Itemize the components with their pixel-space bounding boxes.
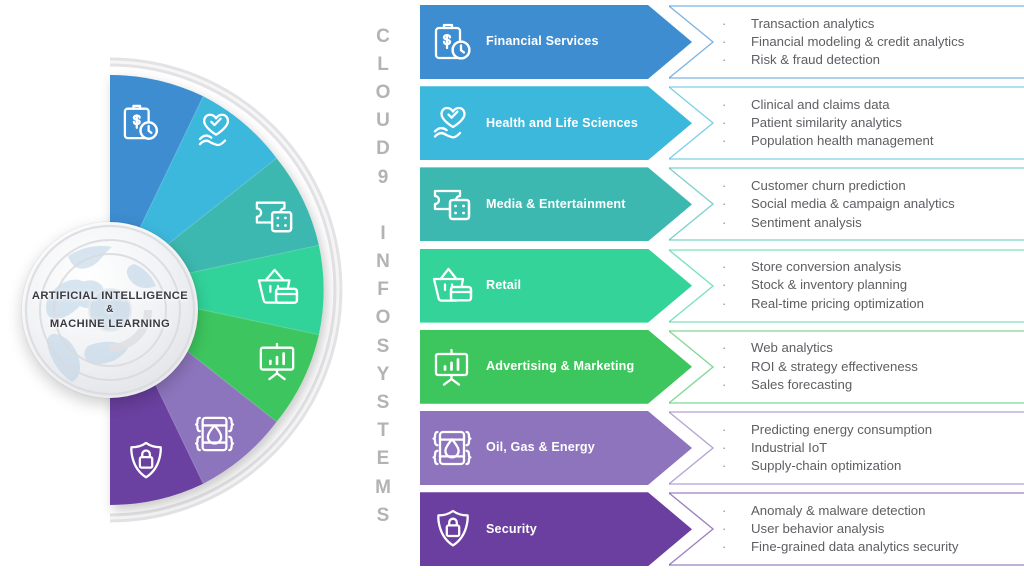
bullet-item: ·Real-time pricing optimization (722, 295, 1020, 313)
row-arrow-media-and-entertainment[interactable]: Media & Entertainment (420, 167, 692, 241)
brand-letter: I (380, 219, 385, 247)
bullet-item: ·Sales forecasting (722, 376, 1020, 394)
industry-row[interactable]: ·Store conversion analysis·Stock & inven… (420, 249, 1024, 323)
row-arrow-financial-services[interactable]: Financial Services (420, 5, 692, 79)
bullet-text: Anomaly & malware detection (751, 502, 925, 520)
bullet-dot-icon: · (722, 439, 751, 457)
bullet-item: ·Sentiment analysis (722, 214, 1020, 232)
row-title: Oil, Gas & Energy (486, 440, 601, 455)
bullet-item: ·Stock & inventory planning (722, 276, 1020, 294)
bullet-item: ·Transaction analytics (722, 15, 1020, 33)
row-detail-panel-advertising-and-marketing: ·Web analytics·ROI & strategy effectiven… (669, 330, 1024, 404)
bullet-text: Sales forecasting (751, 376, 852, 394)
row-title: Financial Services (486, 34, 605, 49)
brand-vertical-text: CLOUD9.INFOSYSTEMS (364, 22, 402, 558)
bullet-item: ·Clinical and claims data (722, 96, 1020, 114)
hub-line-2: & (32, 303, 188, 316)
row-detail-panel-financial-services: ·Transaction analytics·Financial modelin… (669, 5, 1024, 79)
ai-ml-hub: ARTIFICIAL INTELLIGENCE & MACHINE LEARNI… (22, 222, 198, 398)
bullet-dot-icon: · (722, 295, 751, 313)
clipboard-dollar-clock-icon (420, 5, 486, 79)
row-detail-panel-retail: ·Store conversion analysis·Stock & inven… (669, 249, 1024, 323)
row-arrow-retail[interactable]: Retail (420, 249, 692, 323)
industry-row[interactable]: ·Predicting energy consumption·Industria… (420, 411, 1024, 485)
brand-letter: C (376, 22, 390, 50)
bullet-dot-icon: · (722, 96, 751, 114)
bullet-item: ·Population health management (722, 132, 1020, 150)
bullet-dot-icon: · (722, 421, 751, 439)
bullet-text: Clinical and claims data (751, 96, 890, 114)
row-detail-panel-security: ·Anomaly & malware detection·User behavi… (669, 492, 1024, 566)
hub-label: ARTIFICIAL INTELLIGENCE & MACHINE LEARNI… (26, 289, 194, 332)
brand-letter: E (377, 445, 390, 473)
bullet-item: ·Industrial IoT (722, 439, 1020, 457)
infographic-root: ARTIFICIAL INTELLIGENCE & MACHINE LEARNI… (0, 0, 1024, 576)
row-arrow-advertising-and-marketing[interactable]: Advertising & Marketing (420, 330, 692, 404)
bullet-text: Fine-grained data analytics security (751, 538, 958, 556)
brand-letter: U (376, 107, 390, 135)
bullet-dot-icon: · (722, 457, 751, 475)
bullet-dot-icon: · (722, 339, 751, 357)
bullet-list: ·Web analytics·ROI & strategy effectiven… (722, 330, 1020, 404)
industry-row[interactable]: ·Clinical and claims data·Patient simila… (420, 86, 1024, 160)
bullet-text: Social media & campaign analytics (751, 195, 955, 213)
bullet-list: ·Transaction analytics·Financial modelin… (722, 5, 1020, 79)
row-arrow-security[interactable]: Security (420, 492, 692, 566)
bullet-dot-icon: · (722, 358, 751, 376)
bullet-text: Stock & inventory planning (751, 276, 907, 294)
bullet-text: Supply-chain optimization (751, 457, 901, 475)
industry-row[interactable]: ·Transaction analytics·Financial modelin… (420, 5, 1024, 79)
row-arrow-health-and-life-sciences[interactable]: Health and Life Sciences (420, 86, 692, 160)
row-detail-panel-media-and-entertainment: ·Customer churn prediction·Social media … (669, 167, 1024, 241)
bullet-dot-icon: · (722, 33, 751, 51)
bullet-text: Population health management (751, 132, 934, 150)
brand-letter: O (376, 78, 391, 106)
row-title: Media & Entertainment (486, 197, 632, 212)
brand-letter: N (376, 248, 390, 276)
hub-line-1: ARTIFICIAL INTELLIGENCE (32, 289, 188, 304)
bullet-dot-icon: · (722, 276, 751, 294)
bullet-item: ·Predicting energy consumption (722, 421, 1020, 439)
brand-letter: Y (377, 360, 390, 388)
row-detail-panel-oil-gas-and-energy: ·Predicting energy consumption·Industria… (669, 411, 1024, 485)
bullet-item: ·Risk & fraud detection (722, 51, 1020, 69)
bullet-item: ·ROI & strategy effectiveness (722, 358, 1020, 376)
brand-letter: 9 (378, 163, 389, 191)
row-title: Advertising & Marketing (486, 359, 640, 374)
row-detail-panel-health-and-life-sciences: ·Clinical and claims data·Patient simila… (669, 86, 1024, 160)
bullet-dot-icon: · (722, 114, 751, 132)
bullet-text: Web analytics (751, 339, 833, 357)
bullet-list: ·Clinical and claims data·Patient simila… (722, 86, 1020, 160)
brand-letter: S (377, 501, 390, 529)
brand-letter: L (377, 50, 389, 78)
bullet-dot-icon: · (722, 132, 751, 150)
oil-barrel-icon (420, 411, 486, 485)
bullet-item: ·Supply-chain optimization (722, 457, 1020, 475)
bullet-text: Industrial IoT (751, 439, 827, 457)
row-title: Health and Life Sciences (486, 116, 644, 131)
bullet-dot-icon: · (722, 51, 751, 69)
bullet-item: ·Store conversion analysis (722, 258, 1020, 276)
industry-row[interactable]: ·Customer churn prediction·Social media … (420, 167, 1024, 241)
brand-letter: S (377, 388, 390, 416)
bullet-text: Real-time pricing optimization (751, 295, 924, 313)
bullet-item: ·Social media & campaign analytics (722, 195, 1020, 213)
bullet-list: ·Store conversion analysis·Stock & inven… (722, 249, 1020, 323)
presentation-chart-icon (420, 330, 486, 404)
row-arrow-oil-gas-and-energy[interactable]: Oil, Gas & Energy (420, 411, 692, 485)
brand-letter: T (377, 417, 389, 445)
bullet-item: ·Customer churn prediction (722, 177, 1020, 195)
bullet-dot-icon: · (722, 177, 751, 195)
bullet-list: ·Customer churn prediction·Social media … (722, 167, 1020, 241)
bullet-list: ·Predicting energy consumption·Industria… (722, 411, 1020, 485)
bullet-text: Predicting energy consumption (751, 421, 932, 439)
ai-ml-wheel: ARTIFICIAL INTELLIGENCE & MACHINE LEARNI… (0, 0, 360, 576)
industry-row[interactable]: ·Web analytics·ROI & strategy effectiven… (420, 330, 1024, 404)
tickets-icon (420, 167, 486, 241)
bullet-dot-icon: · (722, 15, 751, 33)
bullet-item: ·Web analytics (722, 339, 1020, 357)
brand-letter: O (376, 304, 391, 332)
bullet-dot-icon: · (722, 502, 751, 520)
brand-letter: M (375, 473, 391, 501)
bullet-text: Transaction analytics (751, 15, 874, 33)
bullet-dot-icon: · (722, 195, 751, 213)
bullet-text: ROI & strategy effectiveness (751, 358, 918, 376)
bullet-dot-icon: · (722, 258, 751, 276)
bullet-list: ·Anomaly & malware detection·User behavi… (722, 492, 1020, 566)
bullet-dot-icon: · (722, 538, 751, 556)
bullet-dot-icon: · (722, 214, 751, 232)
heart-hand-icon (420, 86, 486, 160)
bullet-text: Financial modeling & credit analytics (751, 33, 964, 51)
bullet-item: ·Financial modeling & credit analytics (722, 33, 1020, 51)
bullet-text: User behavior analysis (751, 520, 884, 538)
bullet-text: Risk & fraud detection (751, 51, 880, 69)
bullet-item: ·Anomaly & malware detection (722, 502, 1020, 520)
bullet-item: ·Fine-grained data analytics security (722, 538, 1020, 556)
bullet-dot-icon: · (722, 520, 751, 538)
bullet-item: ·User behavior analysis (722, 520, 1020, 538)
row-title: Retail (486, 278, 527, 293)
industry-rows: ·Transaction analytics·Financial modelin… (420, 0, 1024, 576)
bullet-item: ·Patient similarity analytics (722, 114, 1020, 132)
shield-lock-icon (420, 492, 486, 566)
basket-card-icon (420, 249, 486, 323)
bullet-text: Store conversion analysis (751, 258, 901, 276)
brand-letter: . (380, 191, 385, 219)
brand-letter: F (377, 276, 389, 304)
brand-letter: S (377, 332, 390, 360)
bullet-text: Sentiment analysis (751, 214, 862, 232)
brand-letter: D (376, 135, 390, 163)
bullet-text: Patient similarity analytics (751, 114, 902, 132)
row-title: Security (486, 522, 543, 537)
bullet-text: Customer churn prediction (751, 177, 906, 195)
hub-line-3: MACHINE LEARNING (32, 317, 188, 332)
bullet-dot-icon: · (722, 376, 751, 394)
industry-row[interactable]: ·Anomaly & malware detection·User behavi… (420, 492, 1024, 566)
